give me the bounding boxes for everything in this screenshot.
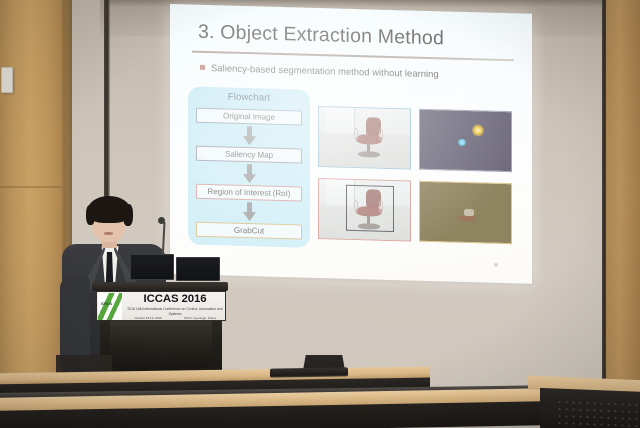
presenter-arm <box>60 276 90 366</box>
flow-arrow-down-icon <box>242 164 257 184</box>
right-wood-wall-panel <box>606 0 640 398</box>
conference-logo-text: ICROS <box>101 302 112 306</box>
original-image-photo <box>318 106 411 170</box>
saliency-hotspot <box>472 124 484 137</box>
lecture-hall-photo: 3. Object Extraction Method Saliency-bas… <box>0 0 640 428</box>
result-image-grid <box>318 106 514 247</box>
roi-image <box>318 178 411 242</box>
flow-step-grabcut: GrabCut <box>196 222 302 240</box>
slide-title: 3. Object Extraction Method <box>198 21 498 52</box>
slide-title-underline <box>192 51 514 62</box>
slide-bullet-row: Saliency-based segmentation method witho… <box>200 62 439 79</box>
conference-name: ICCAS 2016 <box>123 294 226 306</box>
flow-step-region-of-interest: Region of Interest (RoI) <box>196 184 302 202</box>
presenter-hair <box>88 196 130 223</box>
conference-logo: ICROS <box>98 293 122 320</box>
closed-laptop-on-desk <box>270 367 348 377</box>
flow-arrow-down-icon <box>242 126 257 146</box>
podium-monitor-right <box>176 257 220 281</box>
office-chair-object <box>354 117 389 160</box>
grabcut-result-image <box>419 181 512 245</box>
flowchart-panel: Flowchart Original Image Saliency Map Re… <box>188 86 310 247</box>
flow-step-saliency-map: Saliency Map <box>196 146 302 164</box>
roi-bounding-box <box>346 184 393 231</box>
conference-dates: October 16-19, 2016 <box>134 316 161 320</box>
grabcut-extracted-object <box>456 209 481 225</box>
microphone-icon <box>158 217 165 224</box>
lectern-event-banner: ICROS ICCAS 2016 2016 16th International… <box>96 291 226 321</box>
right-desk-mesh-panel <box>556 398 638 427</box>
bullet-square-icon <box>200 65 205 70</box>
slide-bullet-text: Saliency-based segmentation method witho… <box>211 62 439 79</box>
conference-details: October 16-19, 2016 HICO, Gyeongju, Kore… <box>123 316 226 320</box>
flowchart-heading: Flowchart <box>188 90 310 104</box>
wall-switch-plate <box>1 67 13 93</box>
presentation-slide: 3. Object Extraction Method Saliency-bas… <box>170 4 532 284</box>
flow-arrow-down-icon <box>242 202 257 222</box>
screen-speck <box>494 263 498 267</box>
saliency-map-image <box>419 109 512 173</box>
projection-screen: 3. Object Extraction Method Saliency-bas… <box>170 4 532 284</box>
conference-venue: HICO, Gyeongju, Korea <box>184 316 216 320</box>
podium-monitor-left <box>130 254 174 280</box>
flow-step-original-image: Original Image <box>196 108 302 126</box>
lectern-top-surface <box>92 282 228 291</box>
presenter-mouth <box>104 232 113 235</box>
lectern: ICROS ICCAS 2016 2016 16th International… <box>92 258 228 380</box>
